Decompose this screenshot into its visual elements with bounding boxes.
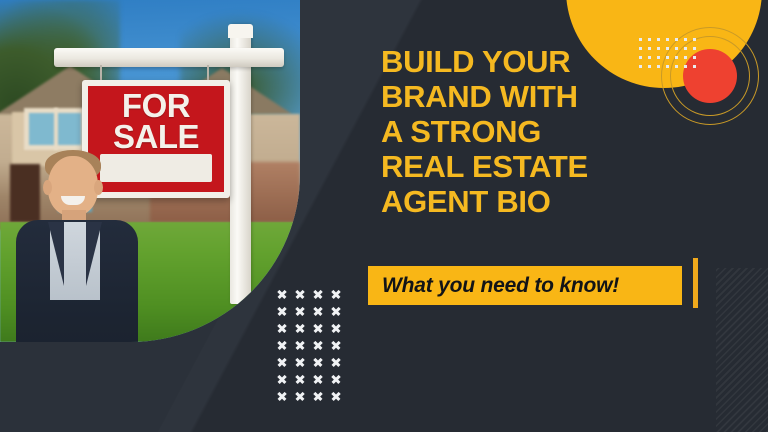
- dot: [657, 65, 660, 68]
- subtitle-banner: What you need to know!: [368, 266, 682, 305]
- dot: [693, 47, 696, 50]
- dot: [666, 56, 669, 59]
- x-mark-icon: [312, 340, 330, 357]
- x-mark-icon: [276, 289, 294, 306]
- for-sale-sign-line-2: SALE: [113, 121, 199, 152]
- x-mark-icon: [294, 374, 312, 391]
- dot: [675, 65, 678, 68]
- headline-line-5: AGENT BIO: [381, 184, 681, 219]
- dot: [639, 38, 642, 41]
- yellow-vertical-bar: [693, 258, 698, 308]
- x-mark-icon: [276, 374, 294, 391]
- dot: [693, 65, 696, 68]
- dot: [675, 38, 678, 41]
- x-mark-icon: [312, 391, 330, 408]
- x-mark-icon: [312, 357, 330, 374]
- dot: [693, 56, 696, 59]
- diagonal-stripe-pattern: [716, 268, 768, 432]
- x-mark-icon: [294, 289, 312, 306]
- dot: [675, 47, 678, 50]
- for-sale-sign-line-1: FOR: [122, 90, 190, 121]
- hero-photo: FOR SALE: [0, 0, 300, 342]
- x-mark-icon: [330, 323, 348, 340]
- dot: [639, 47, 642, 50]
- agent-portrait: [14, 150, 140, 342]
- dot: [684, 56, 687, 59]
- dot: [684, 38, 687, 41]
- agent-head: [48, 156, 98, 216]
- house-window-divider: [54, 108, 58, 150]
- agent-lapel-right: [86, 222, 102, 286]
- x-mark-icon: [294, 306, 312, 323]
- x-mark-icon: [330, 374, 348, 391]
- x-mark-icon: [294, 391, 312, 408]
- dot: [639, 65, 642, 68]
- dot: [657, 47, 660, 50]
- dot: [657, 56, 660, 59]
- headline-line-3: A STRONG: [381, 114, 681, 149]
- x-mark-icon: [276, 357, 294, 374]
- dot-grid-pattern: [639, 38, 700, 72]
- x-mark-icon: [276, 306, 294, 323]
- x-mark-icon: [294, 323, 312, 340]
- dot: [684, 47, 687, 50]
- sign-post-cap: [228, 24, 253, 38]
- dot: [675, 56, 678, 59]
- x-mark-icon: [276, 340, 294, 357]
- dot: [666, 47, 669, 50]
- thumbnail-canvas: FOR SALE BUILD YOUR BRAND WITH A STRONG …: [0, 0, 768, 432]
- agent-ear-right: [94, 180, 103, 195]
- x-mark-icon: [330, 289, 348, 306]
- dot: [648, 56, 651, 59]
- subtitle-text: What you need to know!: [382, 274, 619, 298]
- dot: [648, 65, 651, 68]
- dot: [666, 38, 669, 41]
- headline-line-2: BRAND WITH: [381, 79, 681, 114]
- dot: [657, 38, 660, 41]
- x-mark-icon: [294, 340, 312, 357]
- x-mark-icon: [276, 391, 294, 408]
- dot: [639, 56, 642, 59]
- x-mark-icon: [330, 391, 348, 408]
- x-mark-icon: [312, 374, 330, 391]
- x-mark-icon: [312, 306, 330, 323]
- dot: [648, 38, 651, 41]
- headline-line-4: REAL ESTATE: [381, 149, 681, 184]
- dot: [684, 65, 687, 68]
- x-mark-icon: [330, 357, 348, 374]
- x-mark-icon: [312, 323, 330, 340]
- x-mark-icon: [330, 306, 348, 323]
- agent-ear-left: [43, 180, 52, 195]
- x-mark-icon: [312, 289, 330, 306]
- x-mark-icon: [276, 323, 294, 340]
- dot: [666, 65, 669, 68]
- sign-post-arm: [54, 48, 284, 67]
- dot: [648, 47, 651, 50]
- x-mark-icon: [294, 357, 312, 374]
- dot: [693, 38, 696, 41]
- agent-lapel-left: [48, 222, 64, 286]
- x-mark-grid-pattern: [276, 289, 348, 408]
- x-mark-icon: [330, 340, 348, 357]
